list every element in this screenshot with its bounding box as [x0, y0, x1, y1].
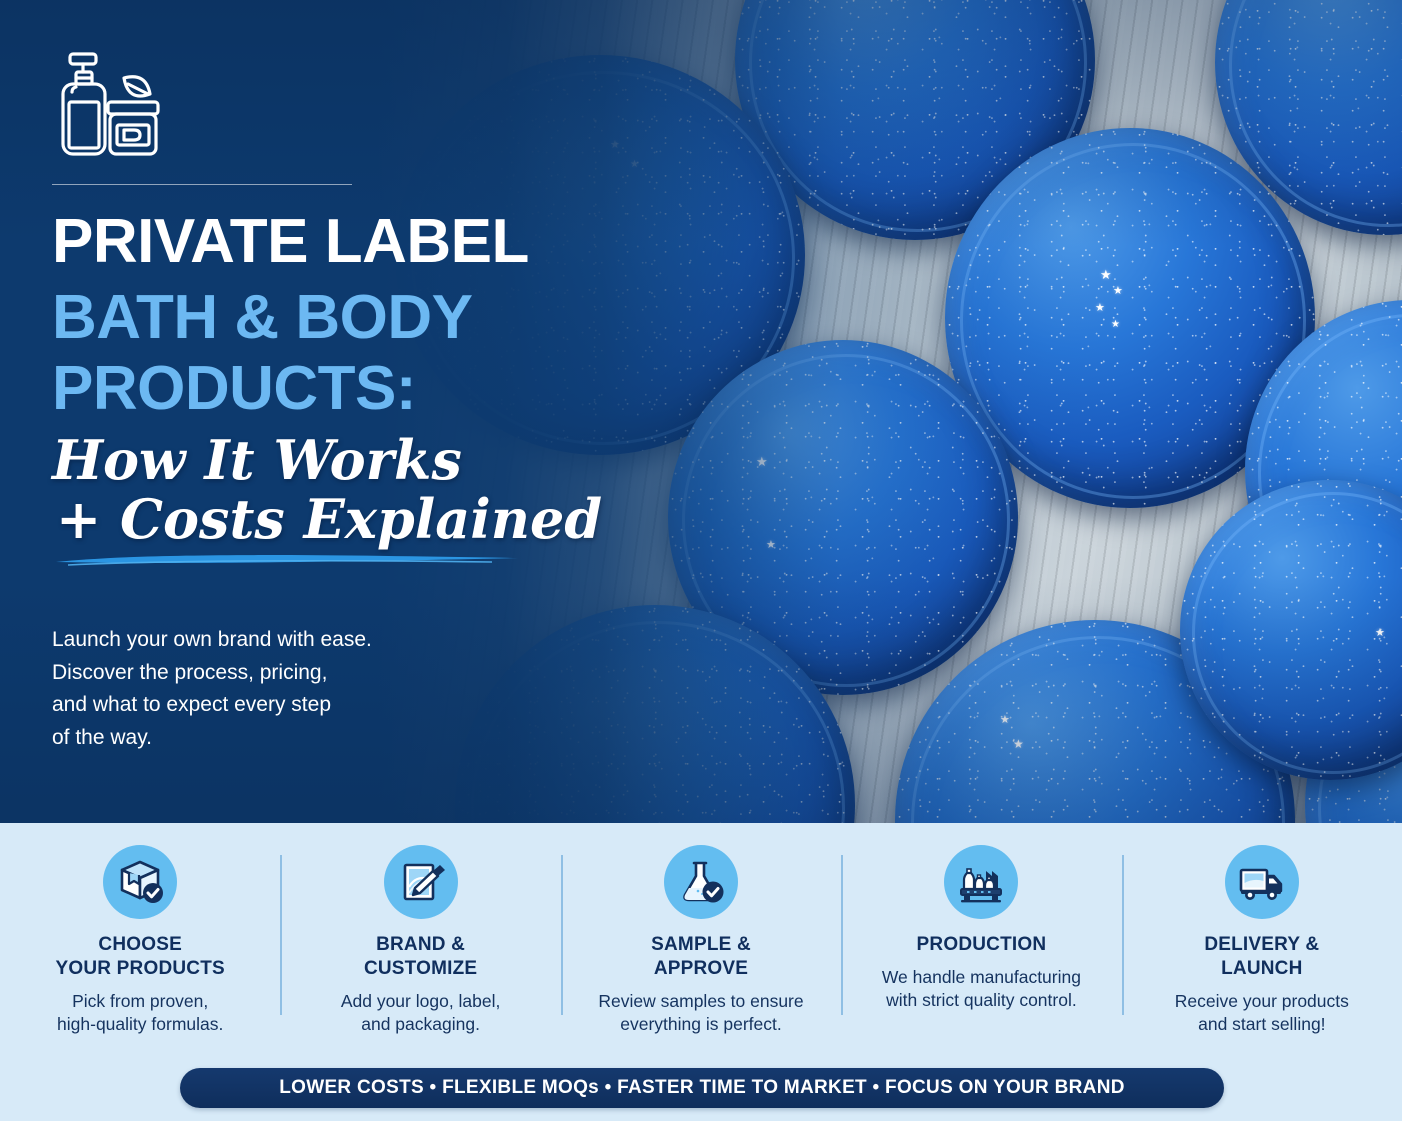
- step-title-line-1: BRAND &: [364, 933, 477, 957]
- lede-line-3: and what to expect every step: [52, 689, 672, 722]
- step-title: SAMPLE & APPROVE: [651, 933, 751, 981]
- step-choose-your-products[interactable]: CHOOSE YOUR PRODUCTS Pick from proven, h…: [0, 823, 280, 1053]
- subtitle-line-1: How It Works: [52, 431, 672, 489]
- step-desc-line-2: with strict quality control.: [882, 989, 1081, 1012]
- step-production[interactable]: PRODUCTION We handle manufacturing with …: [841, 823, 1121, 1053]
- step-desc-line-1: We handle manufacturing: [882, 966, 1081, 989]
- step-title-line-1: CHOOSE: [56, 933, 225, 957]
- title-line-3: PRODUCTS:: [52, 356, 672, 421]
- step-title-line-2: CUSTOMIZE: [364, 957, 477, 981]
- infographic-page: ★★ ★ ★★ ★★ ★★ ★★ ★★ ★★ ★: [0, 0, 1402, 1121]
- lotion-bottle-and-jar-icon: [52, 40, 672, 158]
- delivery-truck-icon: [1225, 845, 1299, 919]
- step-title-line-2: APPROVE: [651, 957, 751, 981]
- step-title-line-2: YOUR PRODUCTS: [56, 957, 225, 981]
- step-description: Add your logo, label, and packaging.: [341, 990, 501, 1036]
- step-desc-line-1: Receive your products: [1175, 990, 1349, 1013]
- factory-bottles-icon: [944, 845, 1018, 919]
- lede-line-2: Discover the process, pricing,: [52, 657, 672, 690]
- benefits-banner-text: LOWER COSTS • FLEXIBLE MOQs • FASTER TIM…: [279, 1077, 1125, 1099]
- step-title-line-1: PRODUCTION: [917, 933, 1047, 957]
- title-line-1: PRIVATE LABEL: [52, 211, 672, 273]
- step-title-line-1: DELIVERY &: [1204, 933, 1319, 957]
- step-title: CHOOSE YOUR PRODUCTS: [56, 933, 225, 981]
- step-description: We handle manufacturing with strict qual…: [882, 966, 1081, 1012]
- hero-content: PRIVATE LABEL BATH & BODY PRODUCTS: How …: [52, 40, 672, 755]
- title-line-2: BATH & BODY: [52, 285, 672, 350]
- box-check-icon: [103, 845, 177, 919]
- step-delivery-and-launch[interactable]: DELIVERY & LAUNCH Receive your products …: [1122, 823, 1402, 1053]
- step-description: Receive your products and start selling!: [1175, 990, 1349, 1036]
- step-desc-line-2: and start selling!: [1175, 1013, 1349, 1036]
- step-title: BRAND & CUSTOMIZE: [364, 933, 477, 981]
- hero-lede: Launch your own brand with ease. Discove…: [52, 624, 672, 755]
- step-sample-and-approve[interactable]: SAMPLE & APPROVE Review samples to ensur…: [561, 823, 841, 1053]
- brush-underline: [52, 550, 522, 568]
- step-desc-line-2: everything is perfect.: [598, 1013, 803, 1036]
- lede-line-4: of the way.: [52, 722, 672, 755]
- step-desc-line-1: Add your logo, label,: [341, 990, 501, 1013]
- step-desc-line-1: Review samples to ensure: [598, 990, 803, 1013]
- step-brand-and-customize[interactable]: BRAND & CUSTOMIZE Add your logo, label, …: [280, 823, 560, 1053]
- subtitle-line-2: + Costs Explained: [56, 490, 672, 548]
- step-description: Pick from proven, high-quality formulas.: [57, 990, 223, 1036]
- step-title: DELIVERY & LAUNCH: [1204, 933, 1319, 981]
- steps-row: CHOOSE YOUR PRODUCTS Pick from proven, h…: [0, 823, 1402, 1053]
- divider-rule: [52, 184, 352, 185]
- step-title-line-2: LAUNCH: [1204, 957, 1319, 981]
- step-desc-line-2: and packaging.: [341, 1013, 501, 1036]
- subtitle-script: How It Works + Costs Explained: [52, 431, 672, 548]
- lede-line-1: Launch your own brand with ease.: [52, 624, 672, 657]
- step-desc-line-2: high-quality formulas.: [57, 1013, 223, 1036]
- page-title: PRIVATE LABEL BATH & BODY PRODUCTS:: [52, 211, 672, 421]
- step-description: Review samples to ensure everything is p…: [598, 990, 803, 1036]
- hero-section: ★★ ★ ★★ ★★ ★★ ★★ ★★ ★★ ★: [0, 0, 1402, 823]
- benefits-banner[interactable]: LOWER COSTS • FLEXIBLE MOQs • FASTER TIM…: [180, 1068, 1224, 1108]
- step-title: PRODUCTION: [917, 933, 1047, 957]
- step-title-line-1: SAMPLE &: [651, 933, 751, 957]
- label-pencil-icon: [384, 845, 458, 919]
- flask-check-icon: [664, 845, 738, 919]
- step-desc-line-1: Pick from proven,: [57, 990, 223, 1013]
